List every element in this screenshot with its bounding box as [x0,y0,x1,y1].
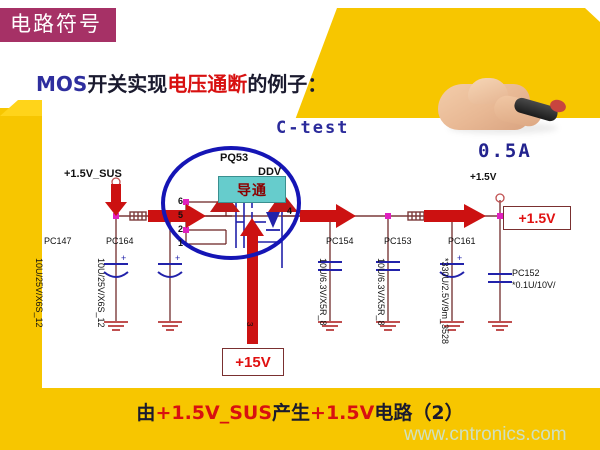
slide-caption: 由+1.5V_SUS产生+1.5V电路（2） [136,398,463,425]
pin-3: 3 [245,322,254,326]
slide-root: 电路符号 MOS开关实现电压通断的例子： [0,0,600,450]
label-c-test: C-test [276,118,349,138]
cap-ref-pc147: PC147 [44,236,72,246]
cap-ref-pc164: PC164 [106,236,134,246]
pin-4: 4 [287,206,292,216]
caption-part-2: +1.5V_SUS [155,402,272,424]
caption-part-3: 产生 [272,402,310,424]
label-mosfet-ref: PQ53 [220,152,248,164]
cap-ref-pc161: PC161 [448,236,476,246]
watermark: www.cntronics.com [404,424,567,446]
cap-value-pc152: *0.1U/10V/ [512,280,556,290]
cap-ref-pc154: PC154 [326,236,354,246]
cap-value-pc147: 10U/25V/X6S_12 [34,258,44,328]
caption-part-4: +1.5V [310,402,374,424]
pin-2: 2 [178,224,183,234]
pin-5: 5 [178,210,183,220]
cap-value-pc161: *330U/2.5V/9m_3528 [440,258,450,344]
caption-part-5: 电路（2） [374,402,463,424]
svg-text:+: + [175,253,180,263]
cap-value-pc153: 10U/6.3V/X5R_8 [376,258,386,326]
label-input-rail: +1.5V_SUS [64,168,122,180]
cap-value-pc164: 10U/25V/X6S_12 [96,258,106,328]
svg-text:+: + [457,253,462,263]
cap-value-pc154: 10U/6.3V/X5R_8 [318,258,328,326]
pin-1: 1 [178,238,183,248]
caption-part-1: 由 [136,402,155,424]
svg-text:+: + [121,253,126,263]
gate-drive-voltage-box: +15V [222,348,284,376]
mosfet-state-badge: 导通 [218,176,286,203]
label-output-rail: +1.5V [470,172,496,183]
output-voltage-box: +1.5V [503,206,571,230]
cap-ref-pc152: PC152 [512,268,540,278]
pin-6: 6 [178,196,183,206]
label-current-0-5a: 0.5A [478,140,532,162]
cap-ref-pc153: PC153 [384,236,412,246]
